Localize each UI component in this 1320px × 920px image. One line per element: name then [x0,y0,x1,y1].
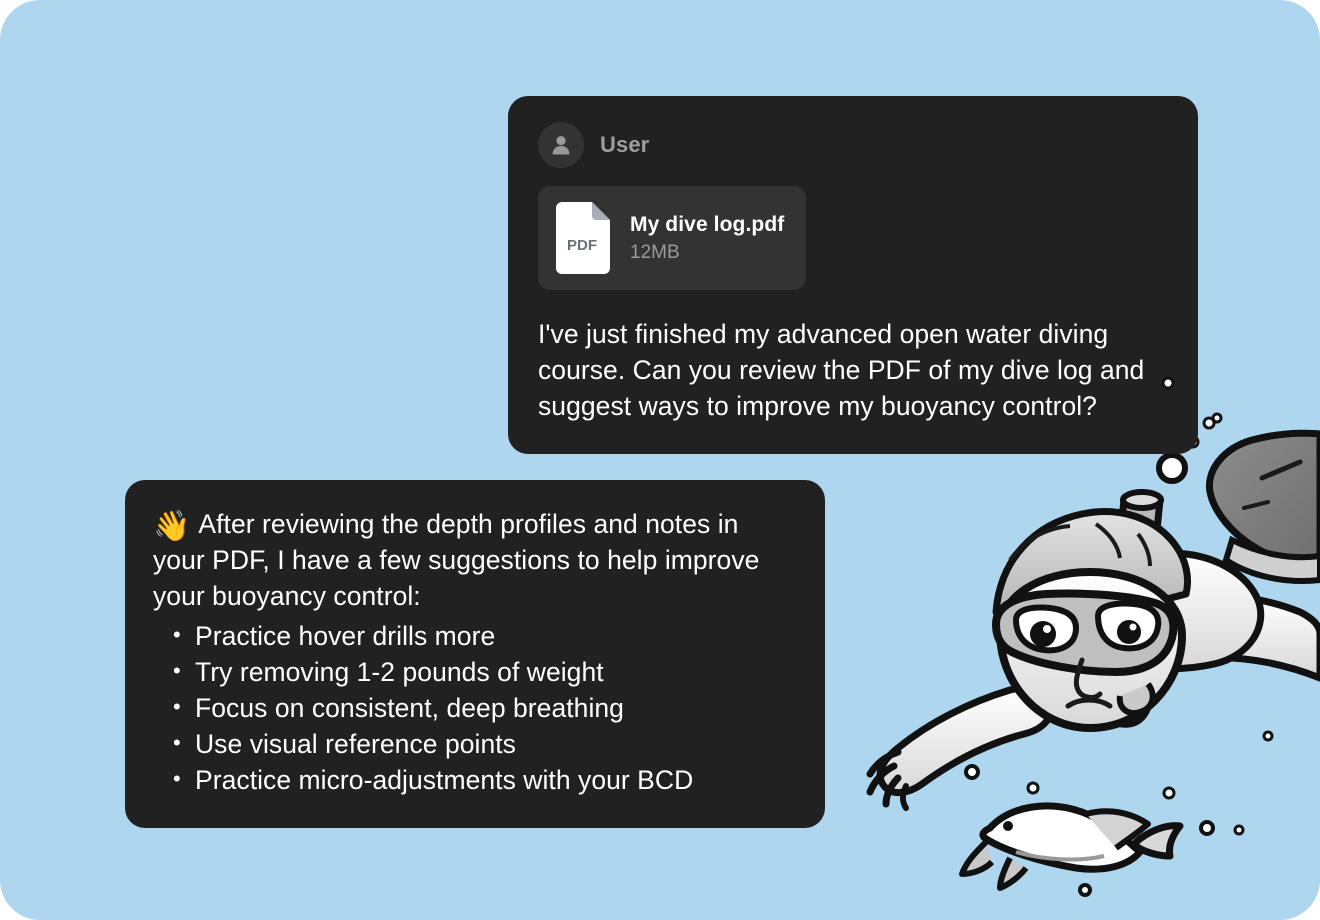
sender-label: User [600,132,649,158]
assistant-intro-text: After reviewing the depth profiles and n… [153,509,759,611]
torso-art [1051,553,1261,669]
attachment-chip[interactable]: PDF My dive log.pdf 12MB [538,186,806,290]
waving-hand-icon: 👋 [153,510,190,543]
list-item: Try removing 1-2 pounds of weight [153,654,797,690]
list-item: Use visual reference points [153,726,797,762]
svg-text:PDF: PDF [567,237,597,254]
snorkeler-head-art [996,512,1188,728]
user-message-text: I've just finished my advanced open wate… [538,316,1168,424]
list-item: Practice micro-adjustments with your BCD [153,762,797,798]
person-icon [548,132,574,158]
attachment-size: 12MB [630,242,784,264]
right-arm-art [1164,596,1320,678]
user-message-bubble: User PDF My dive log.pdf 12MB I've just … [508,96,1198,454]
avatar [538,122,584,168]
pdf-file-icon: PDF [554,202,612,274]
attachment-meta: My dive log.pdf 12MB [630,213,784,264]
air-bubbles-art [966,394,1272,895]
assistant-message-bubble: 👋After reviewing the depth profiles and … [125,480,825,828]
snorkel-tube-art [1104,492,1161,724]
left-arm-art [870,688,1050,808]
wetsuit-sleeve-art [1209,433,1320,581]
page-canvas: User PDF My dive log.pdf 12MB I've just … [0,0,1320,920]
attachment-name: My dive log.pdf [630,213,784,237]
assistant-intro-paragraph: 👋After reviewing the depth profiles and … [153,506,797,614]
list-item: Practice hover drills more [153,618,797,654]
suggestion-list: Practice hover drills more Try removing … [153,618,797,798]
list-item: Focus on consistent, deep breathing [153,690,797,726]
fish-art [962,806,1180,888]
user-header: User [538,122,1168,168]
